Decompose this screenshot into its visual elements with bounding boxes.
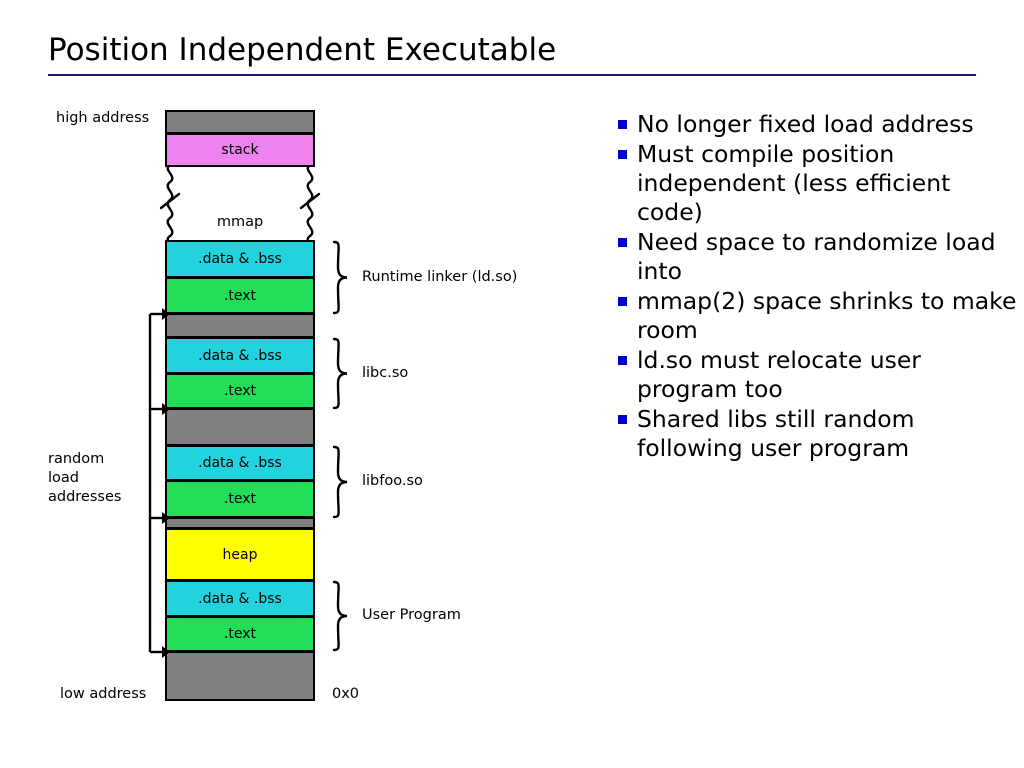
memory-block-label: .text <box>224 626 256 642</box>
random-load-line-2: load <box>48 469 121 488</box>
bullet-marker-icon <box>618 120 627 129</box>
memory-block-ldso-text: .text <box>165 277 315 314</box>
memory-block-libc-data: .data & .bss <box>165 337 315 374</box>
memory-block-libfoo-data: .data & .bss <box>165 445 315 481</box>
memory-block-label: .text <box>224 383 256 399</box>
bullet-marker-icon <box>618 238 627 247</box>
memory-block-top-gray <box>165 110 315 134</box>
bullet-list: No longer fixed load addressMust compile… <box>618 110 1018 464</box>
random-load-bracket-icon <box>140 305 180 660</box>
memory-block-label: .text <box>224 491 256 507</box>
mmap-region: mmap <box>167 166 313 240</box>
memory-block-label: .data & .bss <box>198 348 282 364</box>
zero-address-label: 0x0 <box>332 686 359 702</box>
memory-block-libfoo-text: .text <box>165 480 315 518</box>
bullet-marker-icon <box>618 150 627 159</box>
memory-block-label: .data & .bss <box>198 251 282 267</box>
high-address-label: high address <box>56 110 149 126</box>
bullet-item-4: mmap(2) space shrinks to make room <box>618 287 1018 345</box>
memory-block-heap: heap <box>165 528 315 581</box>
bullet-item-3: Need space to randomize load into <box>618 228 1018 286</box>
mmap-label: mmap <box>217 214 263 230</box>
random-load-addresses-label: random load addresses <box>48 450 121 507</box>
memory-block-ldso-data: .data & .bss <box>165 240 315 278</box>
bullet-item-5: ld.so must relocate user program too <box>618 346 1018 404</box>
brace-label-brace-ldso: Runtime linker (ld.so) <box>362 269 517 285</box>
memory-block-label: .data & .bss <box>198 591 282 607</box>
memory-block-label: stack <box>221 142 258 158</box>
memory-block-prog-text: .text <box>165 616 315 652</box>
memory-block-libc-text: .text <box>165 373 315 409</box>
memory-block-prog-data: .data & .bss <box>165 580 315 617</box>
bullet-item-2: Must compile position independent (less … <box>618 140 1018 227</box>
bullet-text: Need space to randomize load into <box>637 228 1018 286</box>
brace-label-brace-libc: libc.so <box>362 365 408 381</box>
bullet-text: Must compile position independent (less … <box>637 140 1018 227</box>
curly-brace-icon <box>330 337 352 410</box>
curly-brace-icon <box>330 445 352 519</box>
bullet-text: mmap(2) space shrinks to make room <box>637 287 1018 345</box>
random-load-line-3: addresses <box>48 488 121 507</box>
curly-brace-icon <box>330 240 352 315</box>
break-squiggle-right-icon <box>298 164 322 244</box>
bullet-text: No longer fixed load address <box>637 110 974 139</box>
memory-block-label: .text <box>224 288 256 304</box>
bullet-marker-icon <box>618 415 627 424</box>
memory-block-label: .data & .bss <box>198 455 282 471</box>
memory-layout-diagram: high address low address 0x0 mmap stack.… <box>0 0 620 768</box>
bullet-marker-icon <box>618 297 627 306</box>
bullet-text: Shared libs still random following user … <box>637 405 1018 463</box>
bullet-marker-icon <box>618 356 627 365</box>
bullet-item-1: No longer fixed load address <box>618 110 1018 139</box>
break-squiggle-left-icon <box>158 164 182 244</box>
brace-label-brace-libfoo: libfoo.so <box>362 473 423 489</box>
brace-label-brace-program: User Program <box>362 607 461 623</box>
low-address-label: low address <box>60 686 146 702</box>
bullet-text: ld.so must relocate user program too <box>637 346 1018 404</box>
memory-block-gap-2 <box>165 408 315 446</box>
memory-block-bottom-gray <box>165 651 315 701</box>
memory-block-stack: stack <box>165 133 315 167</box>
memory-block-label: heap <box>223 547 258 563</box>
bullet-item-6: Shared libs still random following user … <box>618 405 1018 463</box>
random-load-line-1: random <box>48 450 121 469</box>
memory-block-gap-1 <box>165 313 315 338</box>
curly-brace-icon <box>330 580 352 652</box>
